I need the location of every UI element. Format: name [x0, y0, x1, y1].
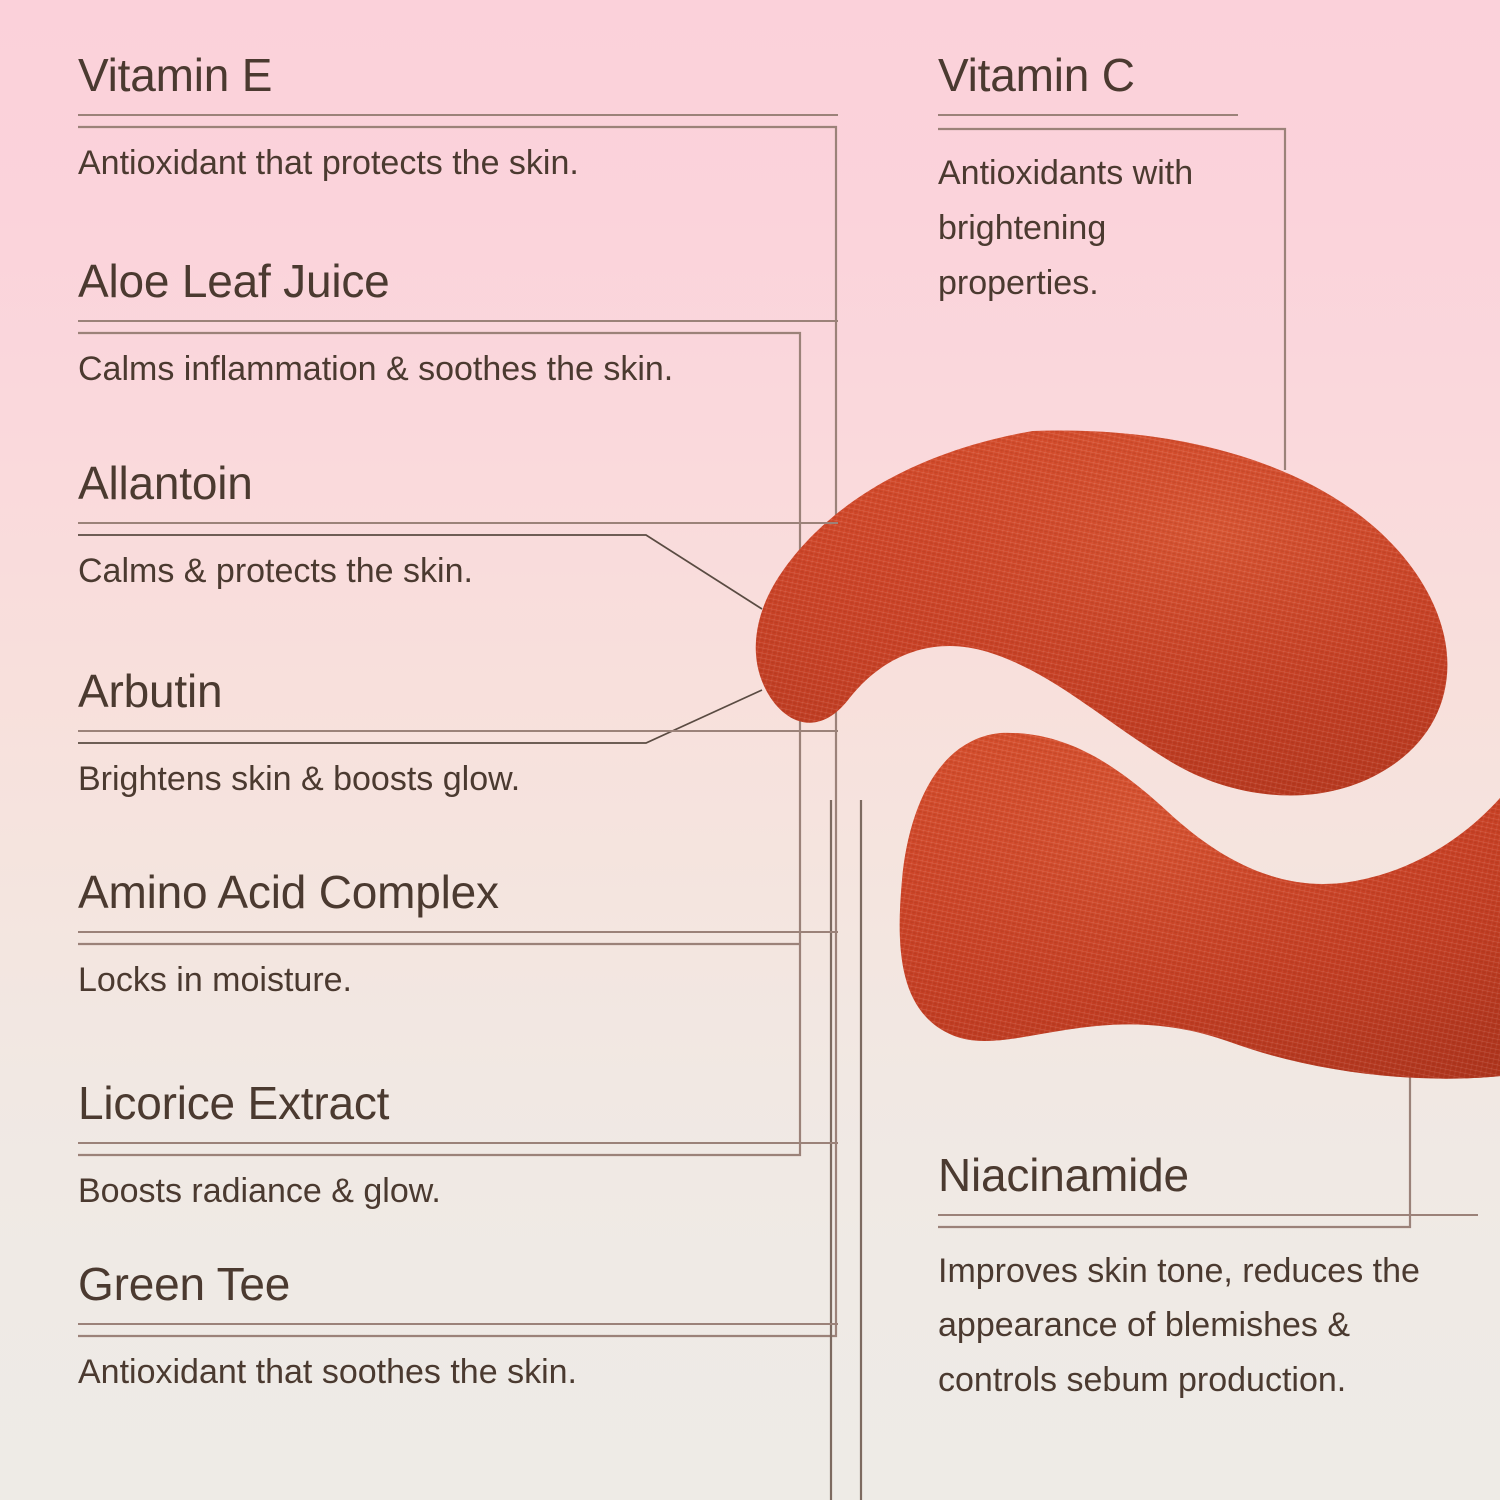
- ingredient-niacinamide: Niacinamide Improves skin tone, reduces …: [938, 1152, 1478, 1407]
- ingredient-description: Antioxidant that protects the skin.: [78, 116, 838, 186]
- ingredient-description: Calms inflammation & soothes the skin.: [78, 322, 838, 392]
- ingredient-description: Antioxidants with brightening properties…: [938, 116, 1238, 311]
- ingredient-allantoin: Allantoin Calms & protects the skin.: [78, 460, 838, 594]
- ingredient-description: Boosts radiance & glow.: [78, 1144, 838, 1214]
- ingredient-name: Arbutin: [78, 668, 838, 714]
- ingredient-description: Antioxidant that soothes the skin.: [78, 1325, 838, 1395]
- ingredient-description: Improves skin tone, reduces the appearan…: [938, 1216, 1478, 1407]
- ingredient-name: Aloe Leaf Juice: [78, 258, 838, 304]
- ingredient-name: Vitamin E: [78, 52, 838, 98]
- ingredient-green-tee: Green Tee Antioxidant that soothes the s…: [78, 1261, 838, 1395]
- ingredient-description: Calms & protects the skin.: [78, 524, 838, 594]
- ingredient-description: Brightens skin & boosts glow.: [78, 732, 838, 802]
- ingredient-licorice-extract: Licorice Extract Boosts radiance & glow.: [78, 1080, 838, 1214]
- ingredient-aloe-leaf-juice: Aloe Leaf Juice Calms inflammation & soo…: [78, 258, 838, 392]
- ingredient-infographic: Vitamin E Antioxidant that protects the …: [0, 0, 1500, 1500]
- ingredient-arbutin: Arbutin Brightens skin & boosts glow.: [78, 668, 838, 802]
- ingredient-name: Licorice Extract: [78, 1080, 838, 1126]
- ingredient-name: Allantoin: [78, 460, 838, 506]
- ingredient-amino-acid-complex: Amino Acid Complex Locks in moisture.: [78, 869, 838, 1003]
- ingredient-vitamin-e: Vitamin E Antioxidant that protects the …: [78, 52, 838, 186]
- ingredient-vitamin-c: Vitamin C Antioxidants with brightening …: [938, 52, 1238, 311]
- ingredient-name: Niacinamide: [938, 1152, 1478, 1198]
- ingredient-name: Vitamin C: [938, 52, 1238, 98]
- ingredient-name: Amino Acid Complex: [78, 869, 838, 915]
- ingredient-name: Green Tee: [78, 1261, 838, 1307]
- ingredient-description: Locks in moisture.: [78, 933, 838, 1003]
